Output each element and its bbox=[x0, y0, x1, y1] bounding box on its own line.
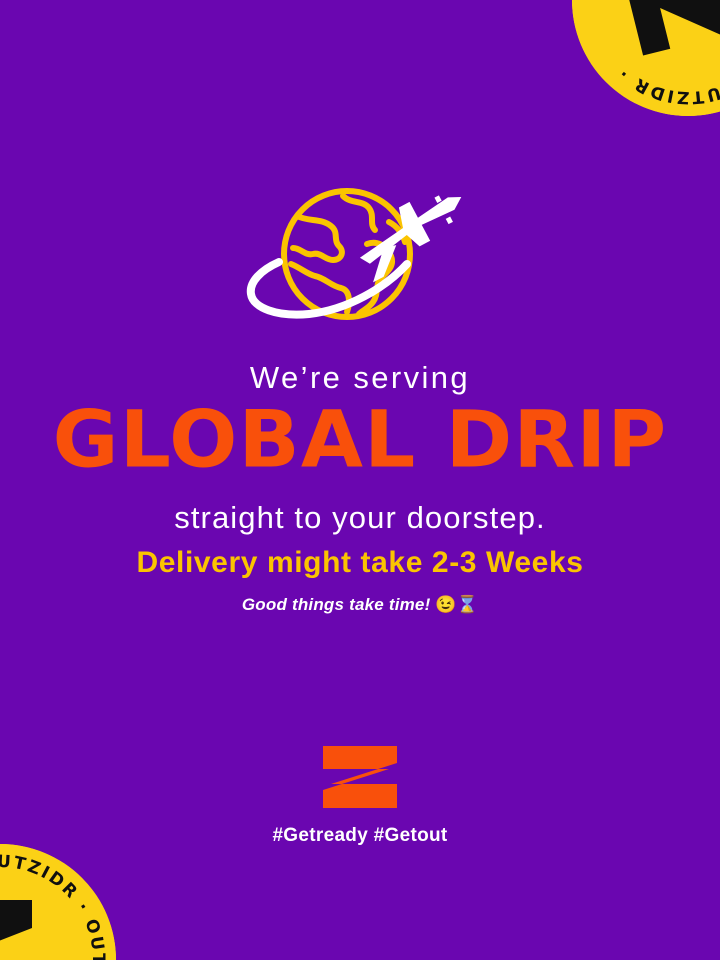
delivery-block: Delivery might take 2-3 Weeks Good thing… bbox=[0, 548, 720, 613]
footer-brand: #Getready #Getout bbox=[0, 746, 720, 845]
headline-title: GLOBAL DRIP bbox=[0, 402, 720, 481]
poster-canvas: OUTZIDR · OUTZIDR · OUTZIDR · OUTZIDR · … bbox=[0, 0, 720, 960]
footer-hashtags: #Getready #Getout bbox=[272, 826, 447, 845]
headline-block: We’re serving GLOBAL DRIP straight to yo… bbox=[0, 362, 720, 533]
brand-stamp-bottom-left: OUTZIDR · OUTZIDR · OUTZIDR · OUTZIDR · … bbox=[0, 844, 116, 960]
delivery-note: Good things take time! 😉⌛ bbox=[0, 596, 720, 613]
globe-airplane-icon bbox=[235, 178, 485, 336]
headline-subline: straight to your doorstep. bbox=[0, 502, 720, 533]
headline-eyebrow: We’re serving bbox=[0, 362, 720, 393]
delivery-estimate: Delivery might take 2-3 Weeks bbox=[0, 548, 720, 578]
z-logo bbox=[320, 746, 400, 808]
brand-stamp-top-right: OUTZIDR · OUTZIDR · OUTZIDR · OUTZIDR · bbox=[572, 0, 720, 116]
hero-illustration bbox=[0, 178, 720, 336]
delivery-note-text: Good things take time! bbox=[242, 595, 431, 614]
delivery-note-emoji: 😉⌛ bbox=[435, 595, 478, 614]
